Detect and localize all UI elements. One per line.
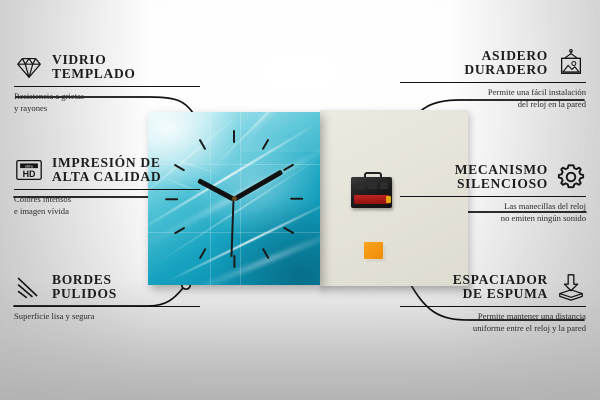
feature-title-line1: BORDES — [52, 273, 117, 287]
feature-title-line2: SILENCIOSO — [457, 177, 548, 191]
feature-title-line1: IMPRESIÓN DE — [52, 156, 161, 170]
feature-title-line2: DE ESPUMA — [463, 287, 548, 301]
mechanism-slot — [380, 182, 388, 189]
gear-icon — [556, 162, 586, 192]
feature-rule — [400, 82, 586, 83]
feature-subtitle: Las manecillas del reloj no emiten ningú… — [400, 201, 586, 224]
clock-tick — [233, 130, 235, 143]
feature-espaciador-de-espuma: ESPACIADOR DE ESPUMA Permite mantener un… — [400, 272, 586, 334]
mechanism-slot — [356, 182, 365, 189]
down-arrow-pad-icon — [556, 272, 586, 302]
foam-spacer — [364, 242, 383, 259]
feature-title-line1: ESPACIADOR — [453, 273, 548, 287]
feature-rule — [400, 306, 586, 307]
feature-bordes-pulidos: BORDES PULIDOS Superficie lisa y segura — [14, 272, 200, 323]
clock-tick — [283, 226, 294, 234]
feature-rule — [14, 189, 200, 190]
clock-center-pin — [232, 196, 237, 201]
clock-tick — [174, 226, 185, 234]
clock-tick — [199, 247, 207, 258]
feature-subtitle: Resistencia a grietas y rayones — [14, 91, 200, 114]
clock-tick — [283, 163, 294, 171]
product-infographic: VIDRIO TEMPLADO Resistencia a grietas y … — [0, 0, 600, 400]
polished-edges-icon — [14, 272, 44, 302]
clock-hour-hand — [197, 177, 235, 201]
feature-subtitle: Permite mantener una distancia uniforme … — [400, 311, 586, 334]
feature-subtitle: Colores intensos e imagen vívida — [14, 194, 200, 217]
clock-tick — [290, 197, 303, 199]
feature-rule — [14, 86, 200, 87]
feature-mecanismo-silencioso: MECANISMO SILENCIOSO Las manecillas del … — [400, 162, 586, 224]
clock-tick — [233, 255, 235, 268]
feature-title-line1: VIDRIO — [52, 53, 136, 67]
picture-frame-icon — [556, 48, 586, 78]
clock-second-hand — [231, 198, 235, 256]
svg-text:ultra: ultra — [25, 163, 33, 168]
feature-title-line2: DURADERO — [464, 63, 548, 77]
clock-tick — [262, 247, 270, 258]
diamond-icon — [14, 52, 44, 82]
feature-subtitle: Permite una fácil instalación del reloj … — [400, 87, 586, 110]
svg-text:HD: HD — [23, 169, 36, 179]
feature-impresion-alta-calidad: ultra HD IMPRESIÓN DE ALTA CALIDAD Color… — [14, 155, 200, 217]
feature-title-line2: TEMPLADO — [52, 67, 136, 81]
mechanism-slot — [368, 182, 377, 189]
feature-title-line2: ALTA CALIDAD — [52, 170, 161, 184]
feature-rule — [400, 196, 586, 197]
clock-mechanism — [351, 172, 392, 208]
feature-asidero-duradero: ASIDERO DURADERO Permite una fácil insta… — [400, 48, 586, 110]
battery-terminal — [386, 196, 391, 203]
ultra-hd-icon: ultra HD — [14, 155, 44, 185]
feature-title-line1: ASIDERO — [482, 49, 548, 63]
clock-minute-hand — [233, 169, 283, 200]
battery — [354, 195, 389, 204]
feature-title-line1: MECANISMO — [455, 163, 548, 177]
clock-tick — [262, 138, 270, 149]
feature-subtitle: Superficie lisa y segura — [14, 311, 200, 323]
feature-title-line2: PULIDOS — [52, 287, 117, 301]
clock-tick — [199, 138, 207, 149]
feature-rule — [14, 306, 200, 307]
feature-vidrio-templado: VIDRIO TEMPLADO Resistencia a grietas y … — [14, 52, 200, 114]
